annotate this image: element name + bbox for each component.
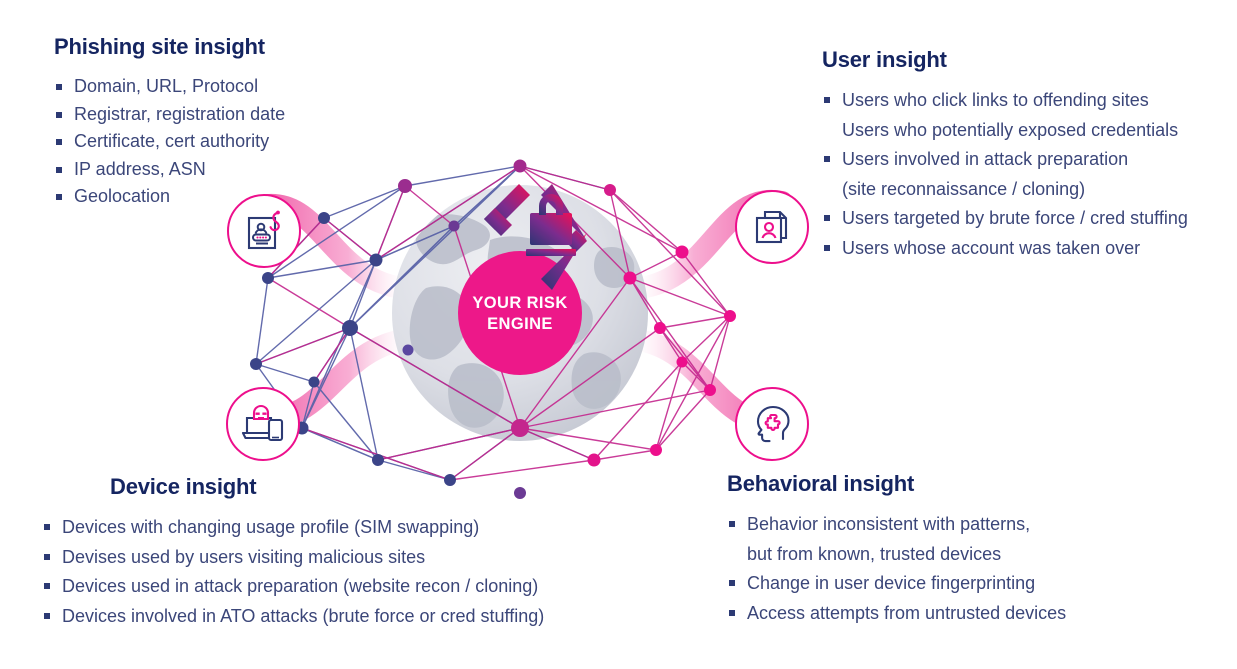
list-item-text: Certificate, cert authority bbox=[74, 131, 269, 151]
list-item-text: Users who potentially exposed credential… bbox=[842, 120, 1178, 140]
bullet-marker bbox=[824, 97, 830, 103]
list-item-text: Change in user device fingerprinting bbox=[747, 573, 1035, 593]
list-item-text: Users who click links to offending sites bbox=[842, 90, 1149, 110]
bullet-marker bbox=[44, 554, 50, 560]
list-item: Users targeted by brute force / cred stu… bbox=[822, 205, 1188, 233]
list-item: but from known, trusted devices bbox=[727, 541, 1066, 569]
list-item-text: Devises used by users visiting malicious… bbox=[62, 547, 425, 567]
list-item: Devices used in attack preparation (webs… bbox=[42, 573, 544, 601]
list-item-text: Devices used in attack preparation (webs… bbox=[62, 576, 538, 596]
bullet-marker bbox=[56, 167, 62, 173]
hub-label-line1: YOUR RISK bbox=[472, 294, 567, 312]
list-item: Access attempts from untrusted devices bbox=[727, 600, 1066, 628]
list-item-text: Behavior inconsistent with patterns, bbox=[747, 514, 1030, 534]
panel-phishing-site-insight: Phishing site insight Domain, URL, Proto… bbox=[54, 34, 285, 212]
laptop-phone-hacker-mask-icon bbox=[226, 387, 300, 461]
list-item: Users who potentially exposed credential… bbox=[822, 117, 1188, 145]
list-item-text: Geolocation bbox=[74, 186, 170, 206]
list-item: (site reconnaissance / cloning) bbox=[822, 176, 1188, 204]
panel-title-behavior: Behavioral insight bbox=[727, 471, 1066, 497]
bullet-marker bbox=[729, 610, 735, 616]
panel-device-insight: Device insight Devices with changing usa… bbox=[42, 474, 544, 632]
bullet-marker bbox=[44, 524, 50, 530]
head-puzzle-brain-icon bbox=[735, 387, 809, 461]
list-item-text: Access attempts from untrusted devices bbox=[747, 603, 1066, 623]
list-item-text: Domain, URL, Protocol bbox=[74, 76, 258, 96]
phishing-login-hook-icon bbox=[227, 194, 301, 268]
list-item-text: IP address, ASN bbox=[74, 159, 206, 179]
list-item-text: Users targeted by brute force / cred stu… bbox=[842, 208, 1188, 228]
bullet-marker bbox=[824, 156, 830, 162]
panel-title-device: Device insight bbox=[110, 474, 544, 500]
infographic-canvas: YOUR RISK ENGINE bbox=[0, 0, 1237, 669]
list-item: Change in user device fingerprinting bbox=[727, 570, 1066, 598]
list-behavior: Behavior inconsistent with patterns,but … bbox=[727, 511, 1066, 627]
list-item: Certificate, cert authority bbox=[54, 129, 285, 155]
list-device: Devices with changing usage profile (SIM… bbox=[42, 514, 544, 630]
bullet-marker bbox=[729, 521, 735, 527]
list-item-text: Registrar, registration date bbox=[74, 104, 285, 124]
list-item: Users involved in attack preparation bbox=[822, 146, 1188, 174]
list-item: Behavior inconsistent with patterns, bbox=[727, 511, 1066, 539]
bullet-marker bbox=[56, 84, 62, 90]
list-item: IP address, ASN bbox=[54, 157, 285, 183]
list-item: Registrar, registration date bbox=[54, 102, 285, 128]
list-item-text: Users involved in attack preparation bbox=[842, 149, 1128, 169]
list-user: Users who click links to offending sites… bbox=[822, 87, 1188, 262]
list-item: Users who click links to offending sites bbox=[822, 87, 1188, 115]
user-documents-icon bbox=[735, 190, 809, 264]
hub-label-line2: ENGINE bbox=[487, 315, 553, 333]
list-item-text: Devices involved in ATO attacks (brute f… bbox=[62, 606, 544, 626]
bullet-marker bbox=[824, 245, 830, 251]
list-item-text: but from known, trusted devices bbox=[747, 544, 1001, 564]
panel-title-phishing: Phishing site insight bbox=[54, 34, 285, 60]
list-item: Devices involved in ATO attacks (brute f… bbox=[42, 603, 544, 631]
list-item: Devices with changing usage profile (SIM… bbox=[42, 514, 544, 542]
bullet-marker bbox=[824, 215, 830, 221]
list-item: Users whose account was taken over bbox=[822, 235, 1188, 263]
panel-behavioral-insight: Behavioral insight Behavior inconsistent… bbox=[727, 471, 1066, 629]
bullet-marker bbox=[729, 580, 735, 586]
bullet-marker bbox=[44, 613, 50, 619]
panel-user-insight: User insight Users who click links to of… bbox=[822, 47, 1188, 264]
list-item-text: Devices with changing usage profile (SIM… bbox=[62, 517, 479, 537]
list-item: Domain, URL, Protocol bbox=[54, 74, 285, 100]
list-item-text: Users whose account was taken over bbox=[842, 238, 1140, 258]
list-item: Devises used by users visiting malicious… bbox=[42, 544, 544, 572]
bullet-marker bbox=[56, 139, 62, 145]
list-item-text: (site reconnaissance / cloning) bbox=[842, 179, 1085, 199]
bullet-marker bbox=[56, 194, 62, 200]
bullet-marker bbox=[56, 112, 62, 118]
list-phishing: Domain, URL, ProtocolRegistrar, registra… bbox=[54, 74, 285, 210]
panel-title-user: User insight bbox=[822, 47, 1188, 73]
bullet-marker bbox=[44, 583, 50, 589]
